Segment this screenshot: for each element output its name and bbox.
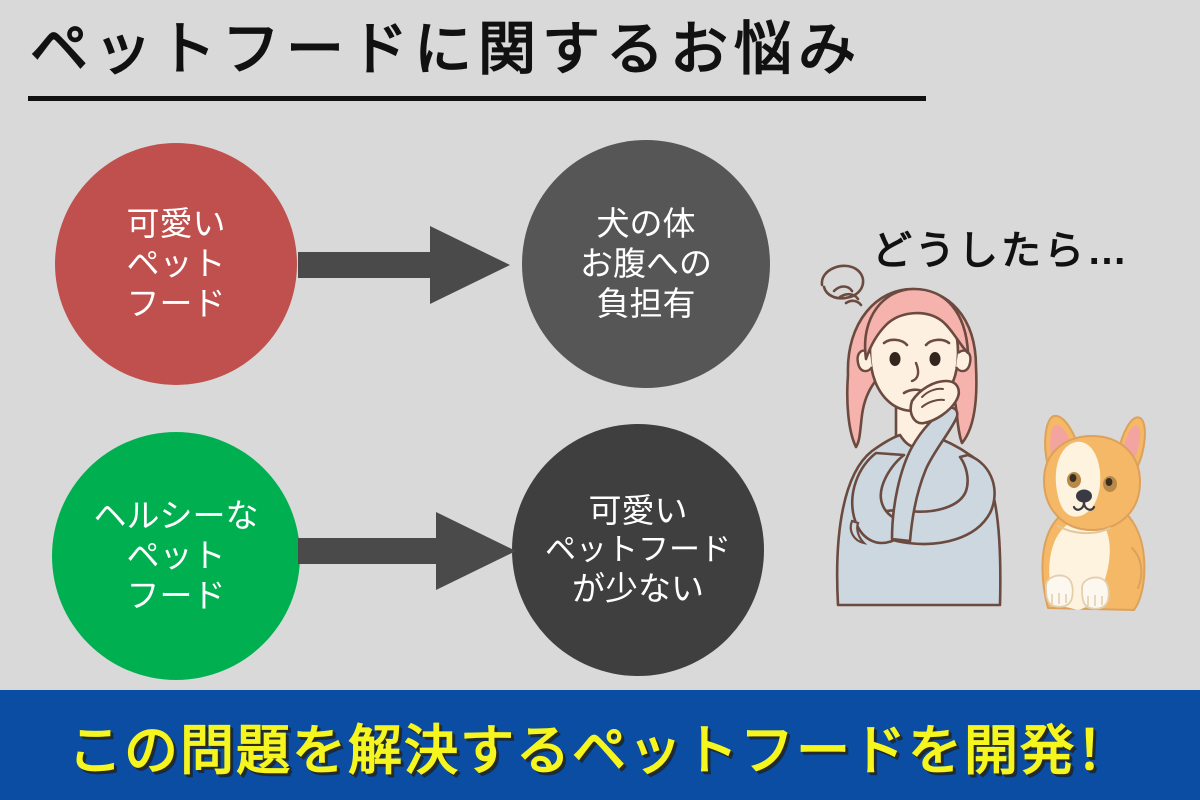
banner-text: この問題を解決するペットフードを開発！ [68,706,1132,785]
node-healthy-line-2: ペット [127,536,226,576]
bottom-banner: この問題を解決するペットフードを開発！ [0,690,1200,800]
node-cute-line-1: 可愛い [127,204,226,244]
node-body-burden: 犬の体 お腹への 負担有 [522,140,770,388]
node-few-line-1: 可愛い [589,491,688,531]
node-few-line-2: ペットフード [545,531,731,569]
node-burden-line-2: お腹への [580,244,712,284]
node-few-line-3: が少ない [572,569,704,609]
node-cute-line-3: フード [127,284,226,324]
woman-thinking-illustration [800,255,1022,615]
page-title: ペットフードに関するお悩み [30,18,862,82]
node-burden-line-1: 犬の体 [597,204,696,244]
node-burden-line-3: 負担有 [597,284,696,324]
woman-eye-left [890,352,901,366]
infographic-canvas: ペットフードに関するお悩み 可愛い ペット フード 犬の体 お腹への 負担有 ヘ… [0,0,1200,800]
woman-eye-right [930,352,941,366]
node-few-cute-pet-food: 可愛い ペットフード が少ない [512,424,764,676]
corgi-dog-illustration [1018,408,1168,620]
node-cute-line-2: ペット [127,244,226,284]
dog-nose [1076,490,1092,503]
confusion-squiggle-icon [822,266,863,305]
node-cute-pet-food: 可愛い ペット フード [55,143,297,385]
node-healthy-pet-food: ヘルシーな ペット フード [52,432,300,680]
dog-eye-left-pupil [1070,474,1077,482]
dog-eye-right-pupil [1106,478,1113,486]
title-underline [28,96,926,101]
node-healthy-line-1: ヘルシーな [94,496,259,536]
arrow-right-icon-top [298,222,512,308]
arrow-right-icon-bottom [298,508,518,594]
node-healthy-line-3: フード [127,576,226,616]
